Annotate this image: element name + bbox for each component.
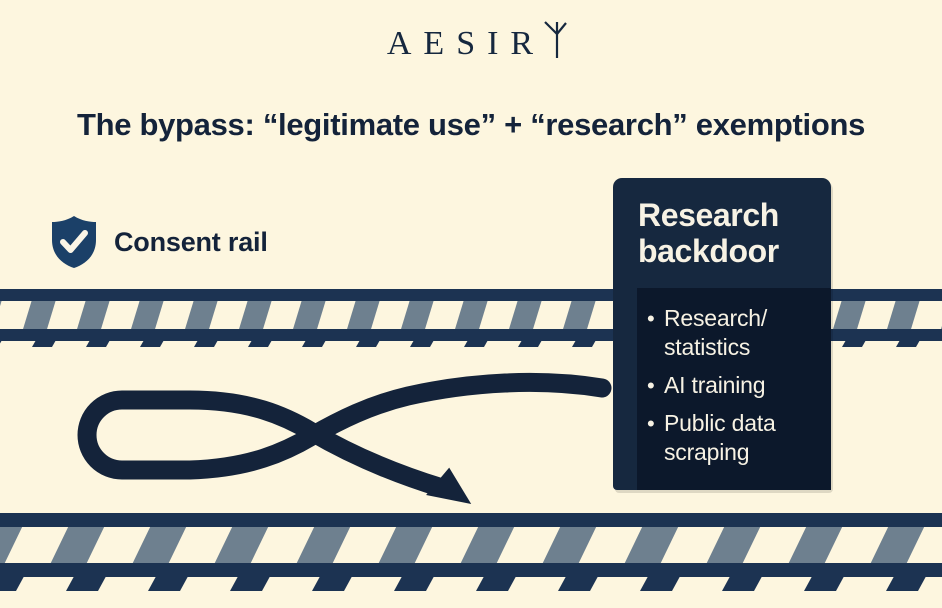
panel-title: Research backdoor	[638, 197, 821, 269]
list-item: AI training	[647, 371, 821, 400]
list-item: Research/ statistics	[647, 304, 821, 362]
panel-title-line2: backdoor	[638, 233, 779, 269]
research-backdoor-panel: Research backdoor Research/ statistics A…	[613, 178, 831, 490]
brand-wordmark: AESIR	[375, 22, 545, 66]
brand-logo: AESIR	[0, 22, 942, 66]
panel-title-line1: Research	[638, 197, 779, 233]
aesir-rune-icon	[541, 20, 567, 60]
panel-item-list: Research/ statistics AI training Public …	[637, 288, 831, 490]
bypass-loop-arrow	[70, 360, 630, 505]
slide-canvas: AESIR The bypass: “legitimate use” + “re…	[0, 0, 942, 608]
lower-rail-track	[0, 505, 942, 600]
list-item: Public data scraping	[647, 409, 821, 467]
consent-rail-label: Consent rail	[114, 227, 268, 258]
page-title: The bypass: “legitimate use” + “research…	[0, 103, 942, 147]
shield-check-icon	[48, 214, 100, 270]
consent-rail-badge: Consent rail	[48, 214, 268, 270]
